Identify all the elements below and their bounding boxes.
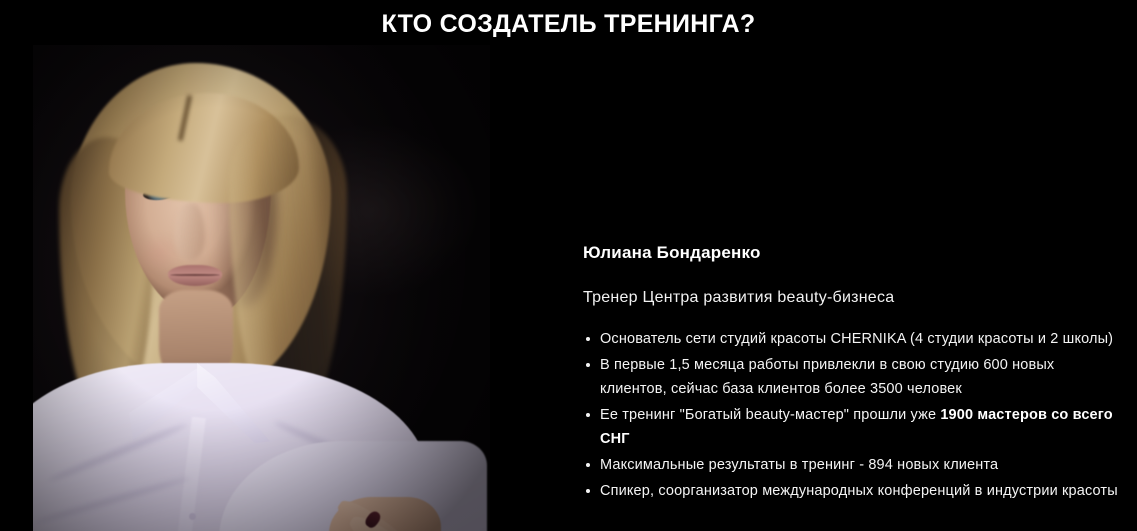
shirt-button [189, 513, 196, 520]
lip-line [170, 274, 220, 276]
photo-canvas [33, 45, 490, 531]
trainer-bio: Юлиана Бондаренко Тренер Центра развития… [580, 243, 1120, 505]
achievement-text: Ее тренинг "Богатый beauty-мастер" прошл… [600, 407, 940, 423]
achievement-text: В первые 1,5 месяца работы привлекли в с… [600, 357, 1054, 397]
achievements-list: Основатель сети студий красоты CHERNIKA … [580, 327, 1120, 503]
achievement-item: Спикер, соорганизатор международных конф… [580, 479, 1120, 503]
achievement-item: В первые 1,5 месяца работы привлекли в с… [580, 353, 1120, 401]
achievement-item: Основатель сети студий красоты CHERNIKA … [580, 327, 1120, 351]
achievement-text: Основатель сети студий красоты CHERNIKA … [600, 331, 1113, 347]
nose [175, 203, 205, 261]
achievement-text: Максимальные результаты в тренинг - 894 … [600, 457, 998, 473]
achievement-item: Максимальные результаты в тренинг - 894 … [580, 453, 1120, 477]
achievement-text: Спикер, соорганизатор международных конф… [600, 483, 1118, 499]
achievement-item: Ее тренинг "Богатый beauty-мастер" прошл… [580, 403, 1120, 451]
trainer-role: Тренер Центра развития beauty-бизнеса [583, 289, 1120, 307]
page-title: КТО СОЗДАТЕЛЬ ТРЕНИНГА? [0, 10, 1137, 39]
trainer-photo [33, 45, 490, 531]
trainer-name: Юлиана Бондаренко [583, 243, 1120, 263]
